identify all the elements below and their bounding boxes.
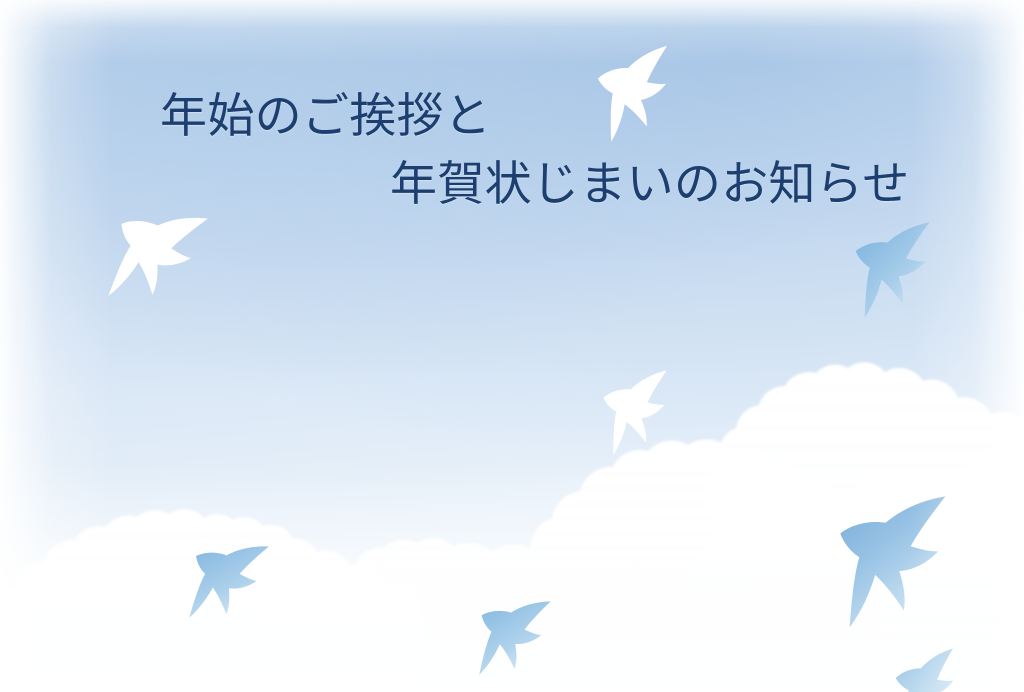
headline-block: 年始のご挨拶と 年賀状じまいのお知らせ xyxy=(0,86,1024,216)
bird-right-large-icon xyxy=(817,483,974,640)
bird-right-upper-icon xyxy=(838,212,953,327)
headline-line-1: 年始のご挨拶と xyxy=(0,86,1024,148)
bird-left-lower-icon xyxy=(170,524,286,640)
headline-line-2: 年賀状じまいのお知らせ xyxy=(0,154,1024,216)
bird-bottom-center-icon xyxy=(461,585,567,691)
greeting-card: 年始のご挨拶と 年賀状じまいのお知らせ xyxy=(0,0,1024,692)
bird-middle-icon xyxy=(587,361,690,464)
